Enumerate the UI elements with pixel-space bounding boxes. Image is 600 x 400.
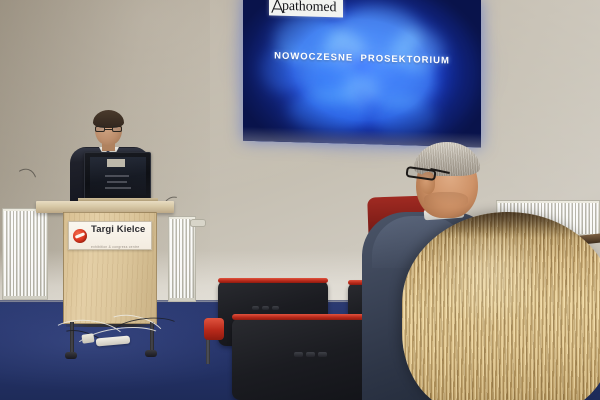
projection-screen: pathomed NOWOCZESNE PROSEKTORIUM <box>243 0 481 149</box>
chair-vents-front <box>294 352 327 357</box>
power-plug[interactable] <box>81 333 94 344</box>
audience-blonde-hair <box>402 212 600 400</box>
hair-sheen <box>428 236 548 326</box>
venue-sign-subtitle: exhibition & congress centre <box>91 245 139 249</box>
audience-man-neck <box>424 192 468 208</box>
chair-vents <box>252 306 279 310</box>
pathomed-logo: pathomed <box>269 0 343 17</box>
laptop-screen-logo <box>107 159 125 167</box>
chair-rail-back <box>218 278 328 283</box>
venue-sign: Targi Kielce exhibition & congress centr… <box>68 221 152 250</box>
chair-seat-cushion <box>204 318 224 340</box>
projected-slide: pathomed NOWOCZESNE PROSEKTORIUM <box>243 0 481 147</box>
venue-sign-title: Targi Kielce <box>91 224 145 235</box>
laptop <box>84 152 151 200</box>
pathomed-logo-text: pathomed <box>282 0 336 15</box>
slide-vignette <box>243 0 481 147</box>
targi-kielce-logo-icon <box>73 229 87 243</box>
radiator-left <box>2 208 48 300</box>
radiator-mid <box>168 216 196 302</box>
triangle-a-mark-icon <box>271 0 284 14</box>
hair-roots <box>402 212 600 238</box>
radiator-valve <box>190 219 206 227</box>
presenter-glasses-icon <box>95 126 122 133</box>
presentation-room-photo: pathomed NOWOCZESNE PROSEKTORIUM <box>0 0 600 400</box>
